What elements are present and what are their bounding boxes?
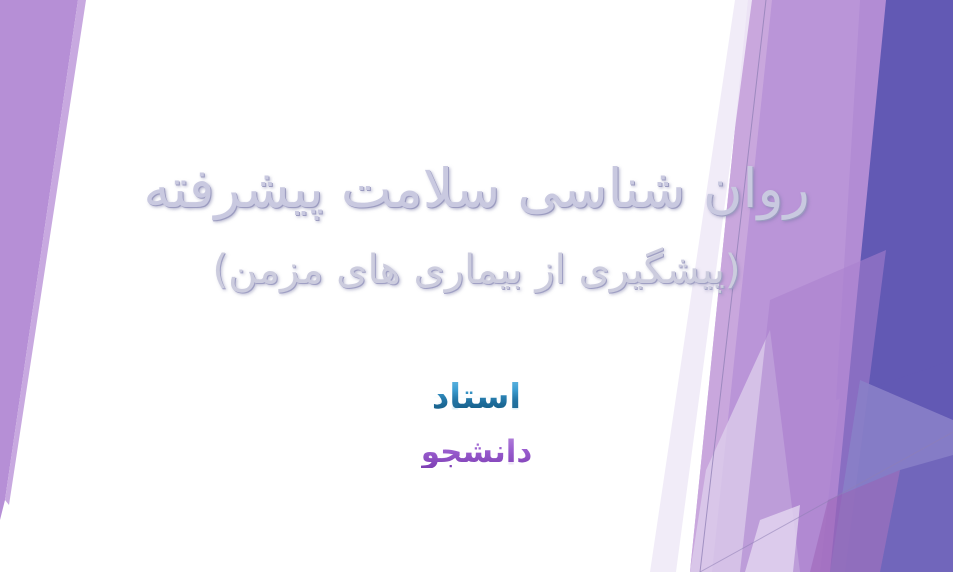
student-label-block: دانشجو دانشجو [0, 437, 953, 496]
title-text-block: روان شناسی سلامت پیشرفته (پیشگیری از بیم… [0, 0, 953, 572]
page-subtitle: (پیشگیری از بیماری های مزمن) [0, 248, 953, 292]
presentation-title-slide: روان شناسی سلامت پیشرفته (پیشگیری از بیم… [0, 0, 953, 572]
page-title: روان شناسی سلامت پیشرفته [0, 160, 953, 217]
student-label-reflection: دانشجو [0, 450, 953, 466]
teacher-label-reflection: استاد [0, 392, 953, 411]
